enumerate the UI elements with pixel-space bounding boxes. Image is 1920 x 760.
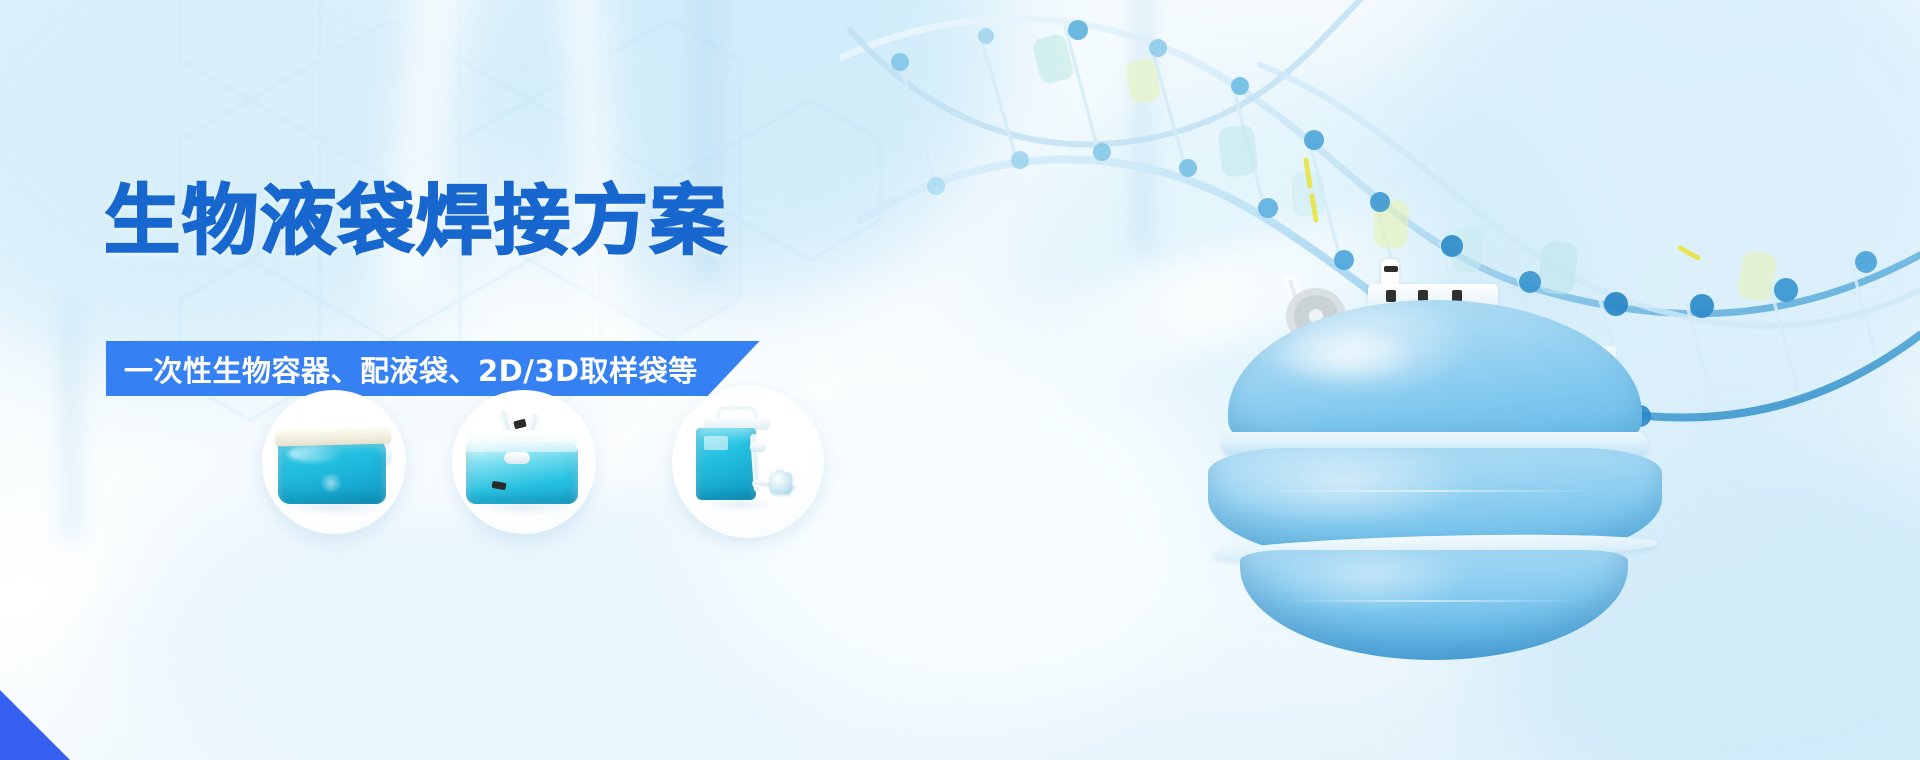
page-title: 生物液袋焊接方案 [104, 183, 728, 259]
product-image-1 [262, 390, 406, 534]
glass-reflection [60, 300, 82, 540]
subtitle-text: 一次性生物容器、配液袋、2D/3D取样袋等 [124, 348, 698, 390]
subtitle-bar: 一次性生物容器、配液袋、2D/3D取样袋等 [106, 341, 760, 396]
product-image-2 [452, 390, 596, 534]
product-thumbnail-flat-pillow-bag[interactable] [262, 390, 406, 534]
bag-highlight [288, 446, 344, 462]
connector-icon [750, 442, 766, 452]
bag-port-clip [1386, 290, 1396, 302]
bag-emboss [318, 474, 344, 492]
bag-label [704, 436, 728, 450]
valve-icon [770, 472, 792, 494]
bag-top-seal [465, 430, 579, 452]
corner-accent-wedge [0, 690, 70, 760]
bag-seam-line [1280, 600, 1580, 602]
product-thumbnail-sampling-bag[interactable] [672, 386, 824, 538]
product-image-3 [672, 386, 824, 538]
bag-port-icon [504, 452, 530, 464]
hero-bioprocess-bag [1200, 300, 1670, 600]
bag-seal-strip [275, 427, 391, 446]
artwork-layer [840, 0, 1920, 760]
clamp-icon [513, 419, 527, 430]
bag-highlight [1270, 326, 1420, 386]
bag-seam-line [1260, 490, 1600, 492]
product-banner: 生物液袋焊接方案 一次性生物容器、配液袋、2D/3D取样袋等 [0, 0, 1920, 760]
product-thumbnail-3d-mixing-bag[interactable] [452, 390, 596, 534]
